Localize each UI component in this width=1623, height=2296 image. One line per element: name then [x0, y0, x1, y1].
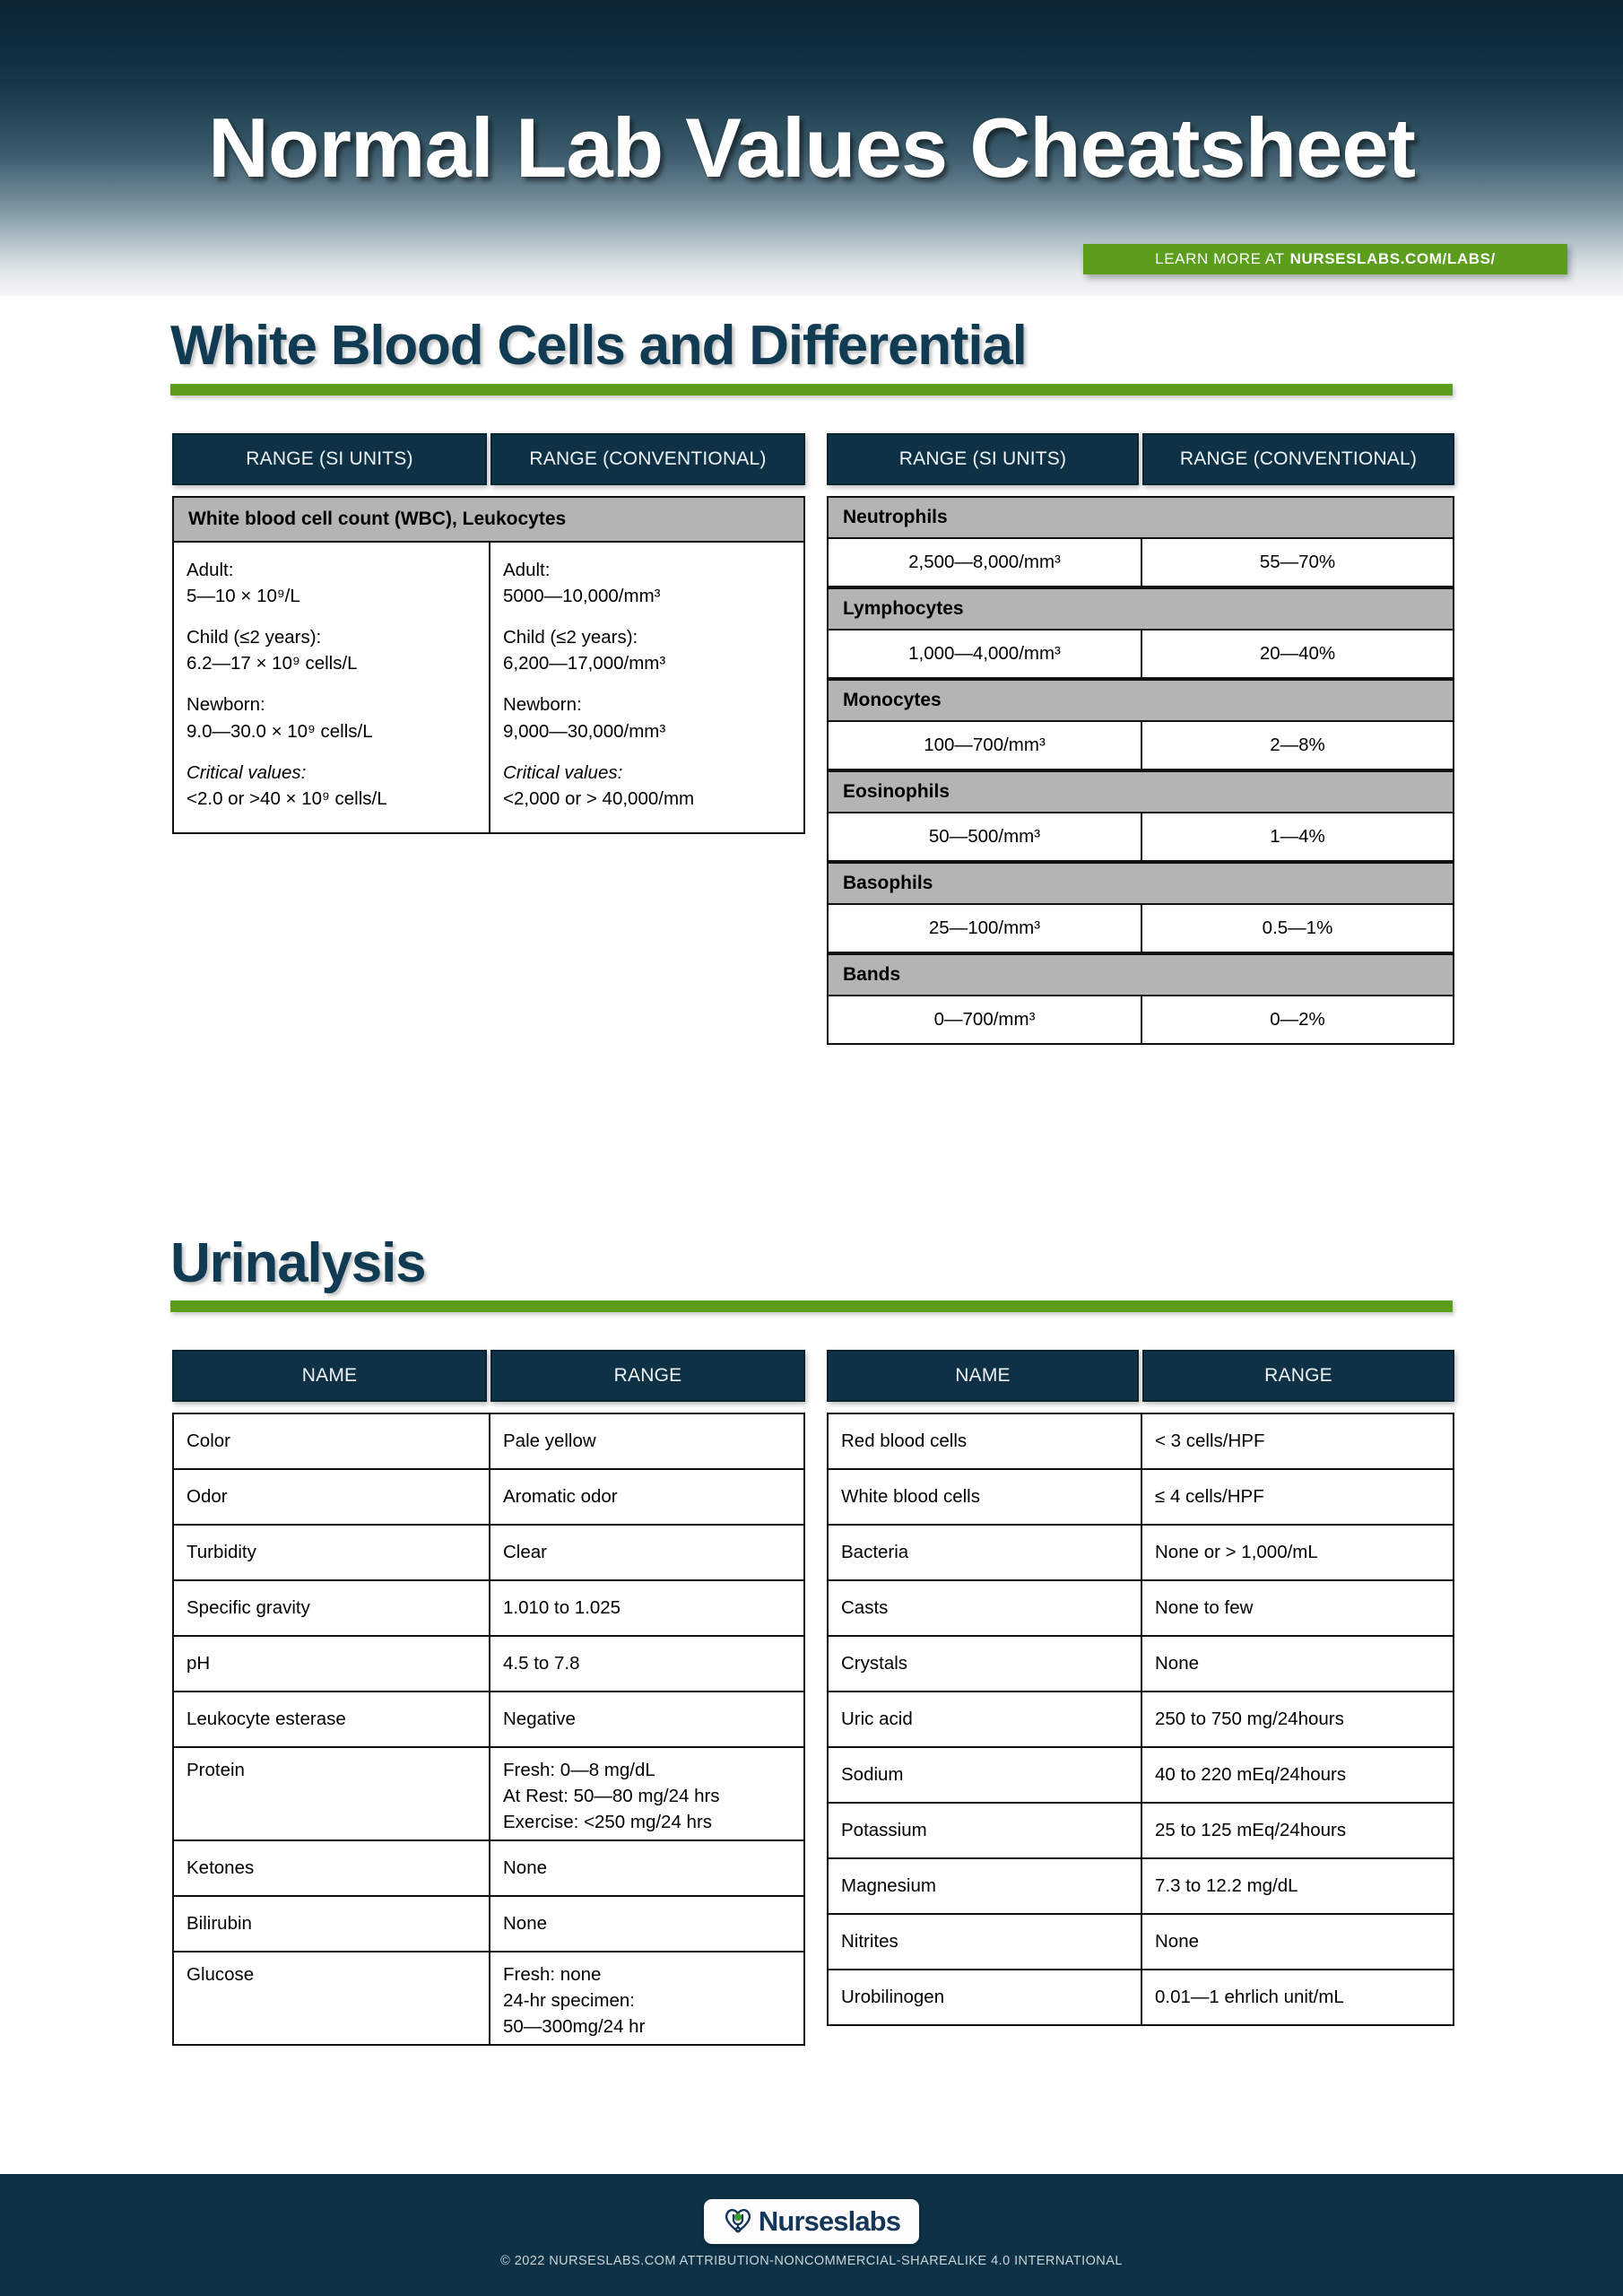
urinalysis-right-range-cell: None or > 1,000/mL — [1141, 1524, 1454, 1581]
urinalysis-left-range-cell: None — [489, 1839, 805, 1897]
table-row: Potassium25 to 125 mEq/24hours — [827, 1802, 1454, 1859]
urinalysis-right-name-cell: Urobilinogen — [827, 1969, 1142, 2026]
table-row: ProteinFresh: 0—8 mg/dL At Rest: 50—80 m… — [172, 1746, 805, 1841]
table-row: 50—500/mm³1—4% — [827, 812, 1454, 862]
urinalysis-left-range-cell: Fresh: none 24-hr specimen: 50—300mg/24 … — [489, 1951, 805, 2046]
wbc-value-line — [187, 609, 387, 624]
urinalysis-left-table: NAME RANGE ColorPale yellowOdorAromatic … — [172, 1350, 805, 2046]
wbc-value-line — [187, 676, 387, 691]
urinalysis-left-range-cell: 1.010 to 1.025 — [489, 1579, 805, 1637]
table-row: Leukocyte esteraseNegative — [172, 1691, 805, 1748]
urinalysis-left-range-cell: Negative — [489, 1691, 805, 1748]
differential-band: Neutrophils — [827, 496, 1454, 537]
wbc-value-line: <2.0 or >40 × 10⁹ cells/L — [187, 786, 387, 812]
urinalysis-right-name-cell: Magnesium — [827, 1857, 1142, 1915]
urinalysis-right-range-cell: 40 to 220 mEq/24hours — [1141, 1746, 1454, 1804]
section-rule-urinalysis — [170, 1300, 1453, 1312]
urinalysis-left-name-cell: Ketones — [172, 1839, 490, 1897]
urinalysis-left-header-row: NAME RANGE — [172, 1350, 805, 1402]
table-row: 100—700/mm³2—8% — [827, 720, 1454, 770]
urinalysis-right-name-cell: Sodium — [827, 1746, 1142, 1804]
table-row: Urobilinogen0.01—1 ehrlich unit/mL — [827, 1969, 1454, 2026]
urinalysis-right-range-cell: None to few — [1141, 1579, 1454, 1637]
urinalysis-right-name-cell: Potassium — [827, 1802, 1142, 1859]
differential-band: Lymphocytes — [827, 587, 1454, 629]
learn-more-banner[interactable]: LEARN MORE AT NURSESLABS.COM/LABS/ — [1083, 244, 1567, 274]
table-row: 25—100/mm³0.5—1% — [827, 903, 1454, 953]
urinalysis-right-name-cell: Uric acid — [827, 1691, 1142, 1748]
table-row: GlucoseFresh: none 24-hr specimen: 50—30… — [172, 1951, 805, 2046]
wbc-conventional-values: Adult:5000—10,000/mm³Child (≤2 years):6,… — [489, 541, 805, 834]
wbc-value-line: 5—10 × 10⁹/L — [187, 583, 387, 609]
wbc-value-line: Adult: — [503, 557, 694, 583]
wbc-value-line: Child (≤2 years): — [187, 624, 387, 650]
differential-band: Monocytes — [827, 679, 1454, 720]
wbc-differential-table: RANGE (SI UNITS) RANGE (CONVENTIONAL) Ne… — [827, 433, 1454, 1045]
table-row: 1,000—4,000/mm³20—40% — [827, 629, 1454, 679]
table-row: BacteriaNone or > 1,000/mL — [827, 1524, 1454, 1581]
urinalysis-right-range-cell: None — [1141, 1635, 1454, 1692]
table-row: 2,500—8,000/mm³55—70% — [827, 537, 1454, 587]
differential-band: Basophils — [827, 862, 1454, 903]
wbc-value-line — [503, 676, 694, 691]
wbc-value-line: Newborn: — [187, 691, 387, 717]
differential-conventional-value: 55—70% — [1141, 537, 1454, 587]
wbc-value-line: Critical values: — [503, 760, 694, 786]
urinalysis-right-range-cell: < 3 cells/HPF — [1141, 1413, 1454, 1470]
wbc-value-line: 5000—10,000/mm³ — [503, 583, 694, 609]
urinalysis-right-range-cell: 0.01—1 ehrlich unit/mL — [1141, 1969, 1454, 2026]
nurseslabs-logo[interactable]: Nurseslabs — [704, 2199, 919, 2244]
wbc-value-line — [187, 744, 387, 760]
urinalysis-left-range-cell: 4.5 to 7.8 — [489, 1635, 805, 1692]
learn-more-prefix: LEARN MORE AT — [1155, 250, 1284, 268]
urinalysis-right-header-range: RANGE — [1142, 1350, 1454, 1402]
urinalysis-right-name-cell: Crystals — [827, 1635, 1142, 1692]
table-row: BilirubinNone — [172, 1895, 805, 1952]
table-row: Magnesium7.3 to 12.2 mg/dL — [827, 1857, 1454, 1915]
urinalysis-left-range-cell: Aromatic odor — [489, 1468, 805, 1526]
urinalysis-left-name-cell: Odor — [172, 1468, 490, 1526]
wbc-header-conventional: RANGE (CONVENTIONAL) — [490, 433, 805, 485]
wbc-value-line: 9.0—30.0 × 10⁹ cells/L — [187, 718, 387, 744]
nurseslabs-logo-text: Nurseslabs — [759, 2205, 900, 2238]
section-heading-wbc-label: White Blood Cells and Differential — [170, 318, 1027, 374]
urinalysis-right-name-cell: Red blood cells — [827, 1413, 1142, 1470]
table-row: 0—700/mm³0—2% — [827, 995, 1454, 1045]
urinalysis-left-range-cell: Pale yellow — [489, 1413, 805, 1470]
table-row: Uric acid250 to 750 mg/24hours — [827, 1691, 1454, 1748]
table-row: Sodium40 to 220 mEq/24hours — [827, 1746, 1454, 1804]
urinalysis-left-name-cell: pH — [172, 1635, 490, 1692]
differential-conventional-value: 2—8% — [1141, 720, 1454, 770]
page-title: Normal Lab Values Cheatsheet — [0, 106, 1623, 190]
table-row: Specific gravity1.010 to 1.025 — [172, 1579, 805, 1637]
differential-si-value: 25—100/mm³ — [827, 903, 1142, 953]
differential-conventional-value: 1—4% — [1141, 812, 1454, 862]
heart-stethoscope-icon — [723, 2205, 753, 2239]
urinalysis-right-range-cell: 7.3 to 12.2 mg/dL — [1141, 1857, 1454, 1915]
learn-more-link: NURSESLABS.COM/LABS/ — [1290, 250, 1496, 268]
wbc-value-line — [503, 744, 694, 760]
table-row: ColorPale yellow — [172, 1413, 805, 1470]
table-row: NitritesNone — [827, 1913, 1454, 1970]
urinalysis-left-name-cell: Protein — [172, 1746, 490, 1841]
wbc-value-line: Child (≤2 years): — [503, 624, 694, 650]
differential-conventional-value: 0—2% — [1141, 995, 1454, 1045]
wbc-band-leukocytes: White blood cell count (WBC), Leukocytes — [172, 496, 805, 541]
wbc-header-si: RANGE (SI UNITS) — [172, 433, 487, 485]
copyright-text: © 2022 NURSESLABS.COM ATTRIBUTION-NONCOM… — [0, 2254, 1623, 2268]
urinalysis-left-header-range: RANGE — [490, 1350, 805, 1402]
table-row: pH4.5 to 7.8 — [172, 1635, 805, 1692]
differential-si-value: 50—500/mm³ — [827, 812, 1142, 862]
urinalysis-left-name-cell: Turbidity — [172, 1524, 490, 1581]
urinalysis-right-header-name: NAME — [827, 1350, 1139, 1402]
urinalysis-left-header-name: NAME — [172, 1350, 487, 1402]
wbc-count-table: RANGE (SI UNITS) RANGE (CONVENTIONAL) Wh… — [172, 433, 805, 834]
urinalysis-right-name-cell: Casts — [827, 1579, 1142, 1637]
table-row: Red blood cells< 3 cells/HPF — [827, 1413, 1454, 1470]
wbc-value-line: Newborn: — [503, 691, 694, 717]
table-row: CastsNone to few — [827, 1579, 1454, 1637]
wbc-value-line: Adult: — [187, 557, 387, 583]
urinalysis-left-name-cell: Color — [172, 1413, 490, 1470]
table-row: CrystalsNone — [827, 1635, 1454, 1692]
urinalysis-right-range-cell: None — [1141, 1913, 1454, 1970]
urinalysis-left-range-cell: None — [489, 1895, 805, 1952]
urinalysis-right-table: NAME RANGE Red blood cells< 3 cells/HPFW… — [827, 1350, 1454, 2026]
table-row: TurbidityClear — [172, 1524, 805, 1581]
table-row: KetonesNone — [172, 1839, 805, 1897]
differential-si-value: 2,500—8,000/mm³ — [827, 537, 1142, 587]
wbc-value-line: 6.2—17 × 10⁹ cells/L — [187, 650, 387, 676]
wbc-value-line: 9,000—30,000/mm³ — [503, 718, 694, 744]
wbc-value-line: 6,200—17,000/mm³ — [503, 650, 694, 676]
wbc-value-line: Critical values: — [187, 760, 387, 786]
differential-band: Eosinophils — [827, 770, 1454, 812]
table-row: White blood cells≤ 4 cells/HPF — [827, 1468, 1454, 1526]
urinalysis-left-name-cell: Glucose — [172, 1951, 490, 2046]
wbc-si-values: Adult:5—10 × 10⁹/LChild (≤2 years):6.2—1… — [172, 541, 490, 834]
differential-band: Bands — [827, 953, 1454, 995]
urinalysis-right-name-cell: Bacteria — [827, 1524, 1142, 1581]
differential-si-value: 100—700/mm³ — [827, 720, 1142, 770]
urinalysis-left-name-cell: Leukocyte esterase — [172, 1691, 490, 1748]
section-heading-urinalysis-label: Urinalysis — [170, 1236, 425, 1291]
urinalysis-right-name-cell: Nitrites — [827, 1913, 1142, 1970]
differential-conventional-value: 0.5—1% — [1141, 903, 1454, 953]
table-row: OdorAromatic odor — [172, 1468, 805, 1526]
section-heading-wbc: White Blood Cells and Differential — [170, 318, 1027, 374]
differential-header-si: RANGE (SI UNITS) — [827, 433, 1139, 485]
differential-header-conventional: RANGE (CONVENTIONAL) — [1142, 433, 1454, 485]
differential-conventional-value: 20—40% — [1141, 629, 1454, 679]
wbc-value-line — [503, 609, 694, 624]
urinalysis-right-range-cell: ≤ 4 cells/HPF — [1141, 1468, 1454, 1526]
urinalysis-left-name-cell: Bilirubin — [172, 1895, 490, 1952]
wbc-table-header-row: RANGE (SI UNITS) RANGE (CONVENTIONAL) — [172, 433, 805, 485]
urinalysis-left-range-cell: Fresh: 0—8 mg/dL At Rest: 50—80 mg/24 hr… — [489, 1746, 805, 1841]
urinalysis-right-range-cell: 250 to 750 mg/24hours — [1141, 1691, 1454, 1748]
urinalysis-right-range-cell: 25 to 125 mEq/24hours — [1141, 1802, 1454, 1859]
section-heading-urinalysis: Urinalysis — [170, 1236, 425, 1291]
urinalysis-left-range-cell: Clear — [489, 1524, 805, 1581]
wbc-data-row: Adult:5—10 × 10⁹/LChild (≤2 years):6.2—1… — [172, 541, 805, 834]
wbc-value-line: <2,000 or > 40,000/mm — [503, 786, 694, 812]
section-rule-wbc — [170, 384, 1453, 396]
differential-header-row: RANGE (SI UNITS) RANGE (CONVENTIONAL) — [827, 433, 1454, 485]
differential-si-value: 1,000—4,000/mm³ — [827, 629, 1142, 679]
urinalysis-left-name-cell: Specific gravity — [172, 1579, 490, 1637]
urinalysis-right-name-cell: White blood cells — [827, 1468, 1142, 1526]
differential-si-value: 0—700/mm³ — [827, 995, 1142, 1045]
urinalysis-right-header-row: NAME RANGE — [827, 1350, 1454, 1402]
